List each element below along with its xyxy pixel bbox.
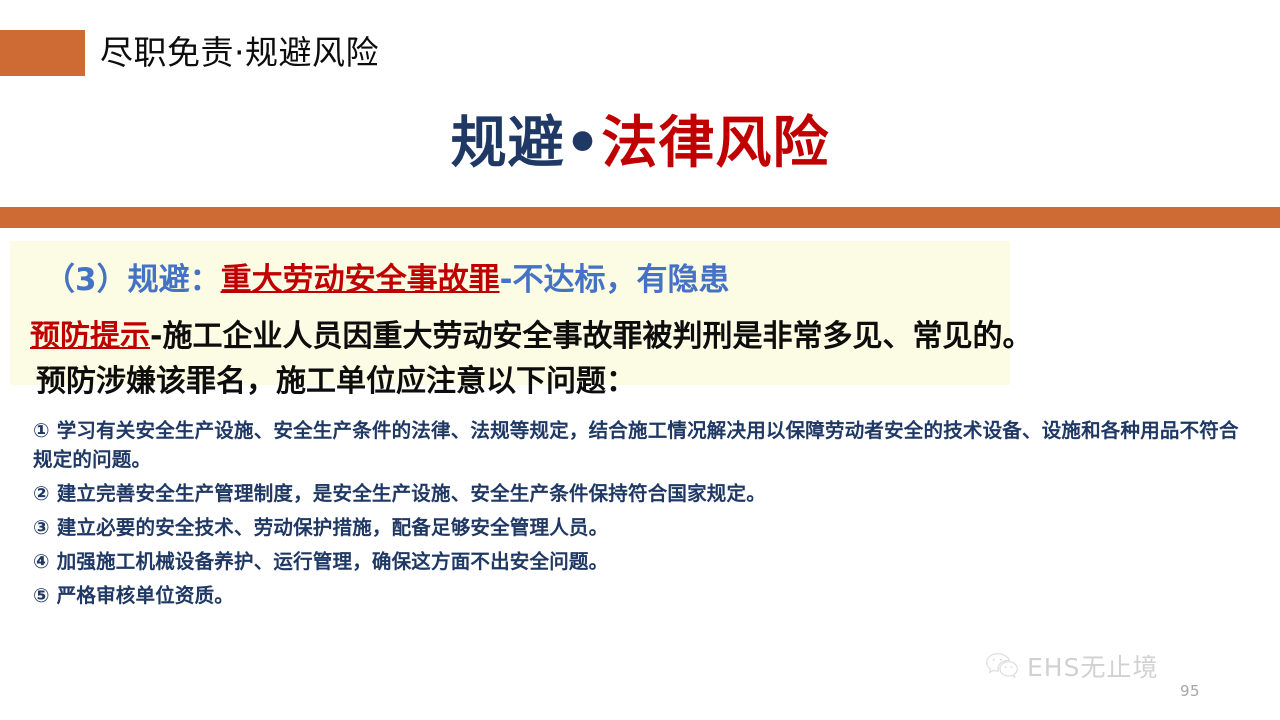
- numbered-list: ① 学习有关安全生产设施、安全生产条件的法律、法规等规定，结合施工情况解决用以保…: [33, 416, 1243, 615]
- body-line-2: 预防提示-施工企业人员因重大劳动安全事故罪被判刑是非常多见、常见的。: [30, 316, 1032, 358]
- body-line-1-crime: 重大劳动安全事故罪: [221, 262, 500, 298]
- page-title-red: 法律风险: [601, 111, 829, 176]
- prevention-tip-label: 预防提示: [30, 319, 150, 354]
- slide: 尽职免责·规避风险 规避•法律风险 （3）规避：重大劳动安全事故罪-不达标，有隐…: [0, 0, 1280, 720]
- list-item: ② 建立完善安全生产管理制度，是安全生产设施、安全生产条件保持符合国家规定。: [33, 479, 1243, 508]
- list-item: ④ 加强施工机械设备养护、运行管理，确保这方面不出安全问题。: [33, 547, 1243, 576]
- slide-header: 尽职免责·规避风险: [0, 30, 1280, 76]
- body-line-1-prefix: （3）规避：: [44, 262, 221, 298]
- page-title: 规避•法律风险: [0, 104, 1280, 184]
- page-title-blue: 规避: [451, 111, 565, 176]
- page-number: 95: [1180, 682, 1200, 700]
- list-item: ③ 建立必要的安全技术、劳动保护措施，配备足够安全管理人员。: [33, 513, 1243, 542]
- body-line-2-text: -施工企业人员因重大劳动安全事故罪被判刑是非常多见、常见的。: [150, 319, 1032, 354]
- list-item: ① 学习有关安全生产设施、安全生产条件的法律、法规等规定，结合施工情况解决用以保…: [33, 416, 1243, 474]
- header-accent-block: [0, 30, 85, 76]
- body-line-1-suffix: -不达标，有隐患: [500, 262, 730, 298]
- watermark-text: EHS无止境: [1027, 648, 1158, 684]
- body-line-3: 预防涉嫌该罪名，施工单位应注意以下问题：: [36, 361, 636, 403]
- body-line-1: （3）规避：重大劳动安全事故罪-不达标，有隐患: [44, 258, 729, 302]
- watermark: EHS无止境: [985, 648, 1158, 684]
- list-item: ⑤ 严格审核单位资质。: [33, 581, 1243, 610]
- wechat-icon: [985, 652, 1019, 680]
- orange-divider: [0, 207, 1280, 228]
- header-title: 尽职免责·规避风险: [100, 29, 379, 77]
- page-title-dot: •: [565, 111, 602, 176]
